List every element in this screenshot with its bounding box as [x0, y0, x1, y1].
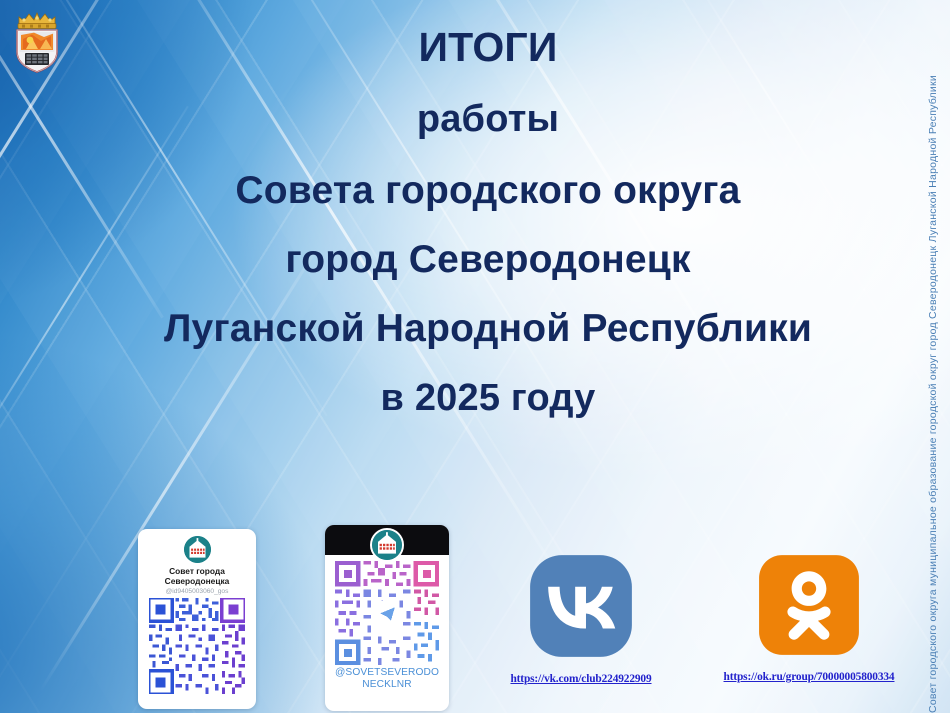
title-line-3: Совета городского округа	[78, 170, 898, 211]
odnoklassniki-logo-icon[interactable]	[757, 553, 861, 657]
telegram-channel-qr-code-icon[interactable]	[335, 561, 439, 665]
council-building-avatar-icon	[184, 536, 211, 563]
title-line-2: работы	[78, 99, 898, 139]
title-line-1: ИТОГИ	[78, 26, 898, 69]
vk-logo-icon[interactable]	[528, 553, 634, 659]
qr-card-name-line-2: Северодонецка	[138, 576, 256, 586]
presentation-slide: ИТОГИ работы Совета городского округа го…	[0, 0, 950, 713]
title-line-5: Луганской Народной Республики	[78, 308, 898, 349]
slide-title-block: ИТОГИ работы Совета городского округа го…	[78, 26, 898, 418]
telegram-handle-line-2: NECKLNR	[325, 679, 449, 691]
vertical-organization-caption: Совет городского округа муниципальное об…	[918, 0, 948, 713]
telegram-qr-card[interactable]: @SOVETSEVERODO NECKLNR	[325, 525, 449, 711]
council-building-avatar-icon	[370, 528, 404, 562]
title-line-6: в 2025 году	[78, 378, 898, 418]
vk-profile-qr-code-icon[interactable]	[149, 598, 245, 694]
qr-card-handle: @id9405003060_gos	[138, 588, 256, 595]
ok-social-block: https://ok.ru/group/70000005800334	[698, 553, 920, 685]
telegram-card-header	[325, 525, 449, 555]
ok-group-link[interactable]: https://ok.ru/group/70000005800334	[724, 671, 895, 683]
title-line-4: город Северодонецк	[78, 239, 898, 280]
telegram-handle-line-1: @SOVETSEVERODO	[325, 667, 449, 679]
qr-card-name-line-1: Совет города	[138, 566, 256, 576]
vk-group-link[interactable]: https://vk.com/club224922909	[510, 673, 651, 685]
vertical-caption-text: Совет городского округа муниципальное об…	[927, 69, 939, 713]
social-links-row: Совет города Северодонецка @id9405003060…	[0, 525, 950, 713]
vk-qr-card[interactable]: Совет города Северодонецка @id9405003060…	[138, 529, 256, 709]
coat-of-arms-icon	[10, 8, 64, 74]
vk-social-block: https://vk.com/club224922909	[478, 553, 684, 687]
